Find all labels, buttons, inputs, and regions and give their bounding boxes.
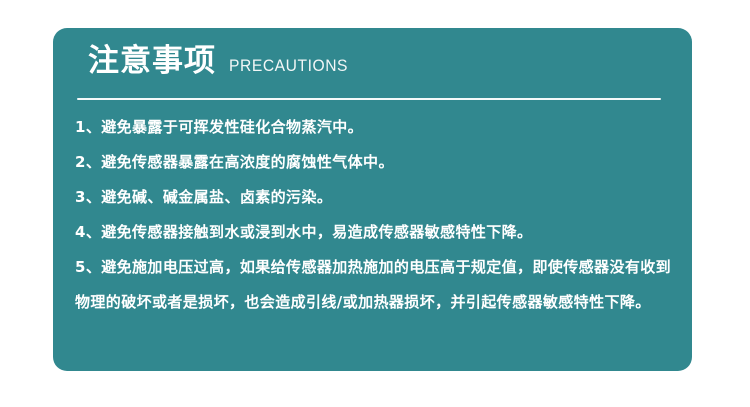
page-title-en: PRECAUTIONS [229,57,348,74]
precautions-list: 1、避免暴露于可挥发性硅化合物蒸汽中。 2、避免传感器暴露在高浓度的腐蚀性气体中… [75,110,678,320]
list-item: 3、避免碱、碱金属盐、卤素的污染。 [75,180,678,215]
precautions-panel: 注意事项 PRECAUTIONS 1、避免暴露于可挥发性硅化合物蒸汽中。 2、避… [53,28,692,371]
list-item: 2、避免传感器暴露在高浓度的腐蚀性气体中。 [75,145,678,180]
screenshot-canvas: 注意事项 PRECAUTIONS 1、避免暴露于可挥发性硅化合物蒸汽中。 2、避… [0,0,750,407]
header-divider [77,98,661,100]
page-title-cn: 注意事项 [88,46,216,77]
list-item: 5、避免施加电压过高，如果给传感器加热施加的电压高于规定值，即使传感器没有收到物… [75,250,675,320]
panel-header: 注意事项 PRECAUTIONS [88,46,358,77]
list-item: 1、避免暴露于可挥发性硅化合物蒸汽中。 [75,110,678,145]
list-item: 4、避免传感器接触到水或浸到水中，易造成传感器敏感特性下降。 [75,215,678,250]
